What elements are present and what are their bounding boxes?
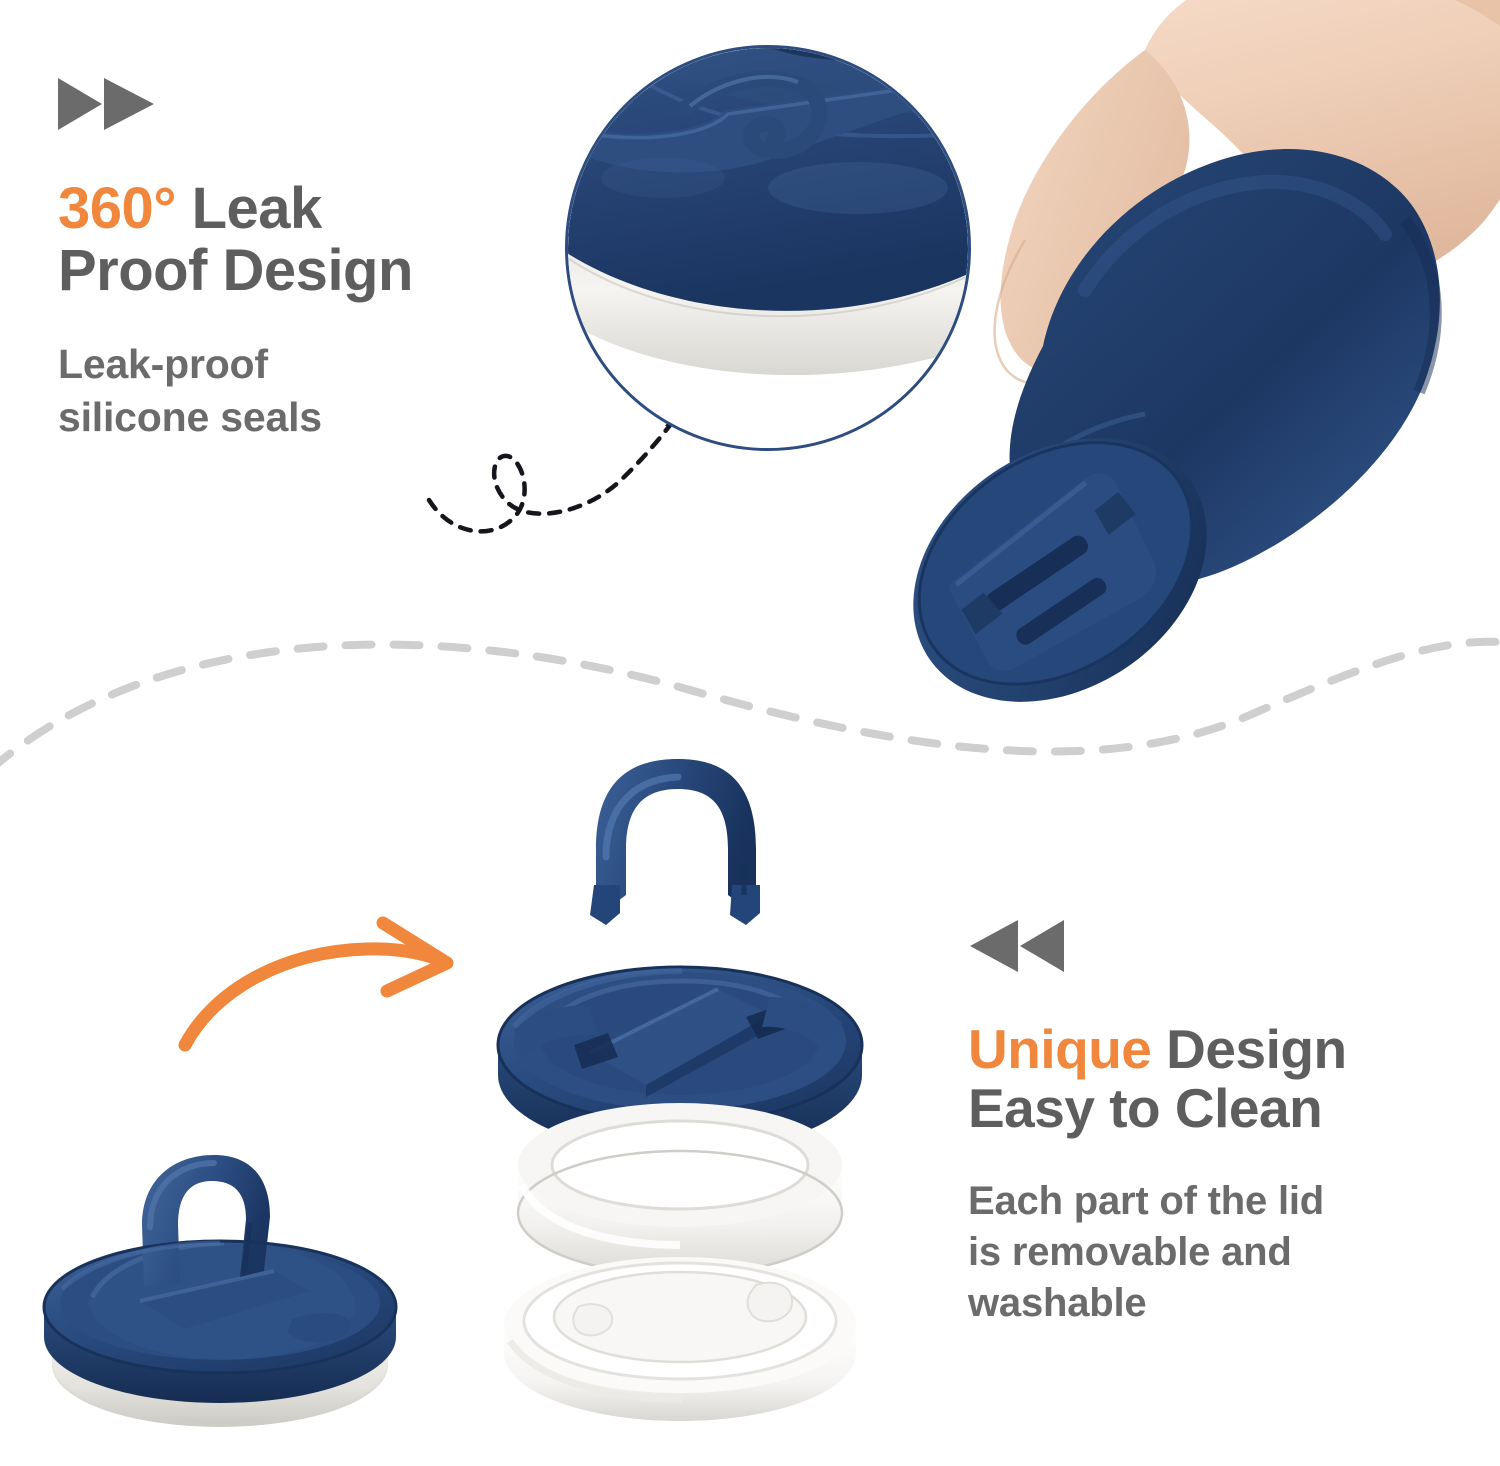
leakproof-subtext-line2: silicone seals: [58, 394, 322, 440]
part-white-silicone-ring: [518, 1103, 842, 1275]
fast-forward-icon: [58, 76, 156, 132]
rewind-icon: [968, 918, 1066, 974]
unique-headline-line2: Easy to Clean: [968, 1077, 1322, 1139]
unique-subtext-line1: Each part of the lid: [968, 1179, 1324, 1223]
unique-headline: Unique Design Easy to Clean: [968, 1020, 1468, 1138]
unique-subtext: Each part of the lid is removable and wa…: [968, 1176, 1468, 1330]
leakproof-headline: 360° Leak Proof Design: [58, 178, 528, 302]
assembled-lid-photo: [0, 1075, 452, 1466]
infographic-canvas: 360° Leak Proof Design Leak-proof silico…: [0, 0, 1500, 1466]
unique-headline-accent: Unique: [968, 1018, 1151, 1080]
hand-holding-tumbler-photo: [845, 0, 1500, 710]
unique-subtext-line2: is removable and: [968, 1230, 1292, 1274]
unique-subtext-line3: washable: [968, 1281, 1146, 1325]
unique-headline-rest: Design: [1151, 1018, 1346, 1080]
leakproof-subtext-line1: Leak-proof: [58, 341, 268, 387]
part-handle-loop: [590, 759, 760, 925]
exploded-lid-diagram: [470, 745, 890, 1445]
leakproof-headline-line2: Proof Design: [58, 238, 413, 303]
leakproof-headline-rest: Leak: [176, 176, 322, 241]
leakproof-headline-accent: 360°: [58, 176, 176, 241]
orange-curved-arrow: [155, 905, 495, 1080]
part-white-gasket-disc: [504, 1257, 856, 1421]
unique-design-text-block: Unique Design Easy to Clean Each part of…: [968, 1020, 1468, 1329]
